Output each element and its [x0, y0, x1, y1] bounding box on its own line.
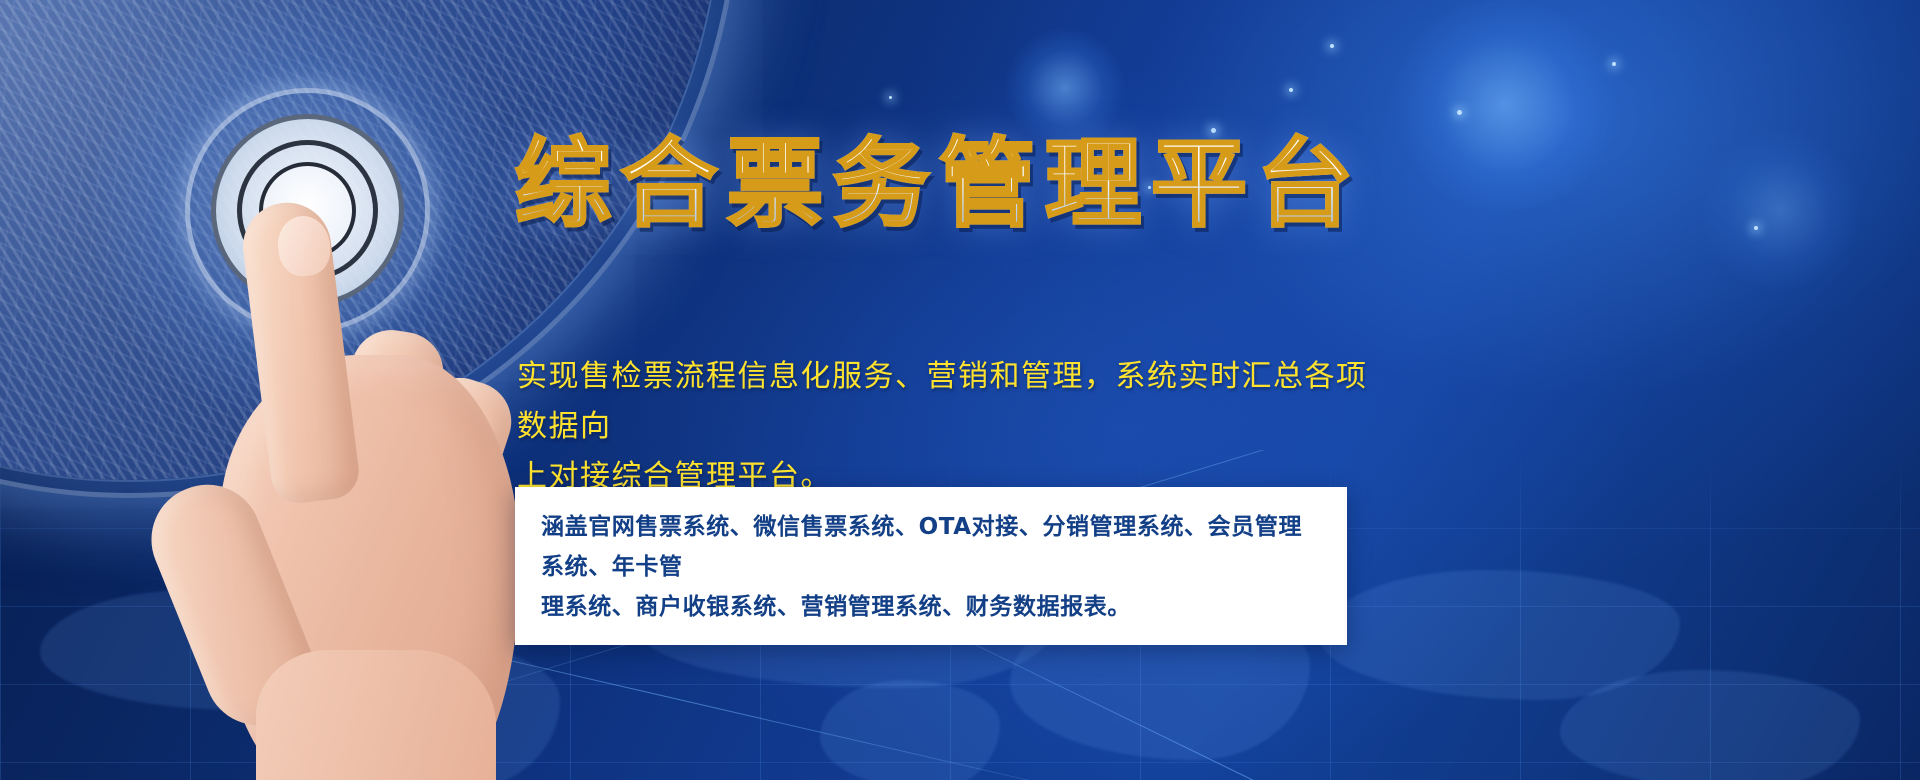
subtitle-line-1: 实现售检票流程信息化服务、营销和管理，系统实时汇总各项数据向: [517, 352, 1397, 452]
feature-info-box: 涵盖官网售票系统、微信售票系统、OTA对接、分销管理系统、会员管理系统、年卡管 …: [515, 487, 1347, 645]
hero-banner: 综合票务管理平台 实现售检票流程信息化服务、营销和管理，系统实时汇总各项数据向 …: [0, 0, 1920, 780]
info-box-line-2: 理系统、商户收银系统、营销管理系统、财务数据报表。: [541, 587, 1321, 627]
info-box-line-1: 涵盖官网售票系统、微信售票系统、OTA对接、分销管理系统、会员管理系统、年卡管: [541, 507, 1321, 587]
page-title: 综合票务管理平台: [515, 132, 1855, 236]
banner-subtitle: 实现售检票流程信息化服务、营销和管理，系统实时汇总各项数据向 上对接综合管理平台…: [517, 352, 1397, 502]
banner-content: 综合票务管理平台 实现售检票流程信息化服务、营销和管理，系统实时汇总各项数据向 …: [515, 0, 1855, 780]
hand-wrist: [256, 650, 496, 780]
